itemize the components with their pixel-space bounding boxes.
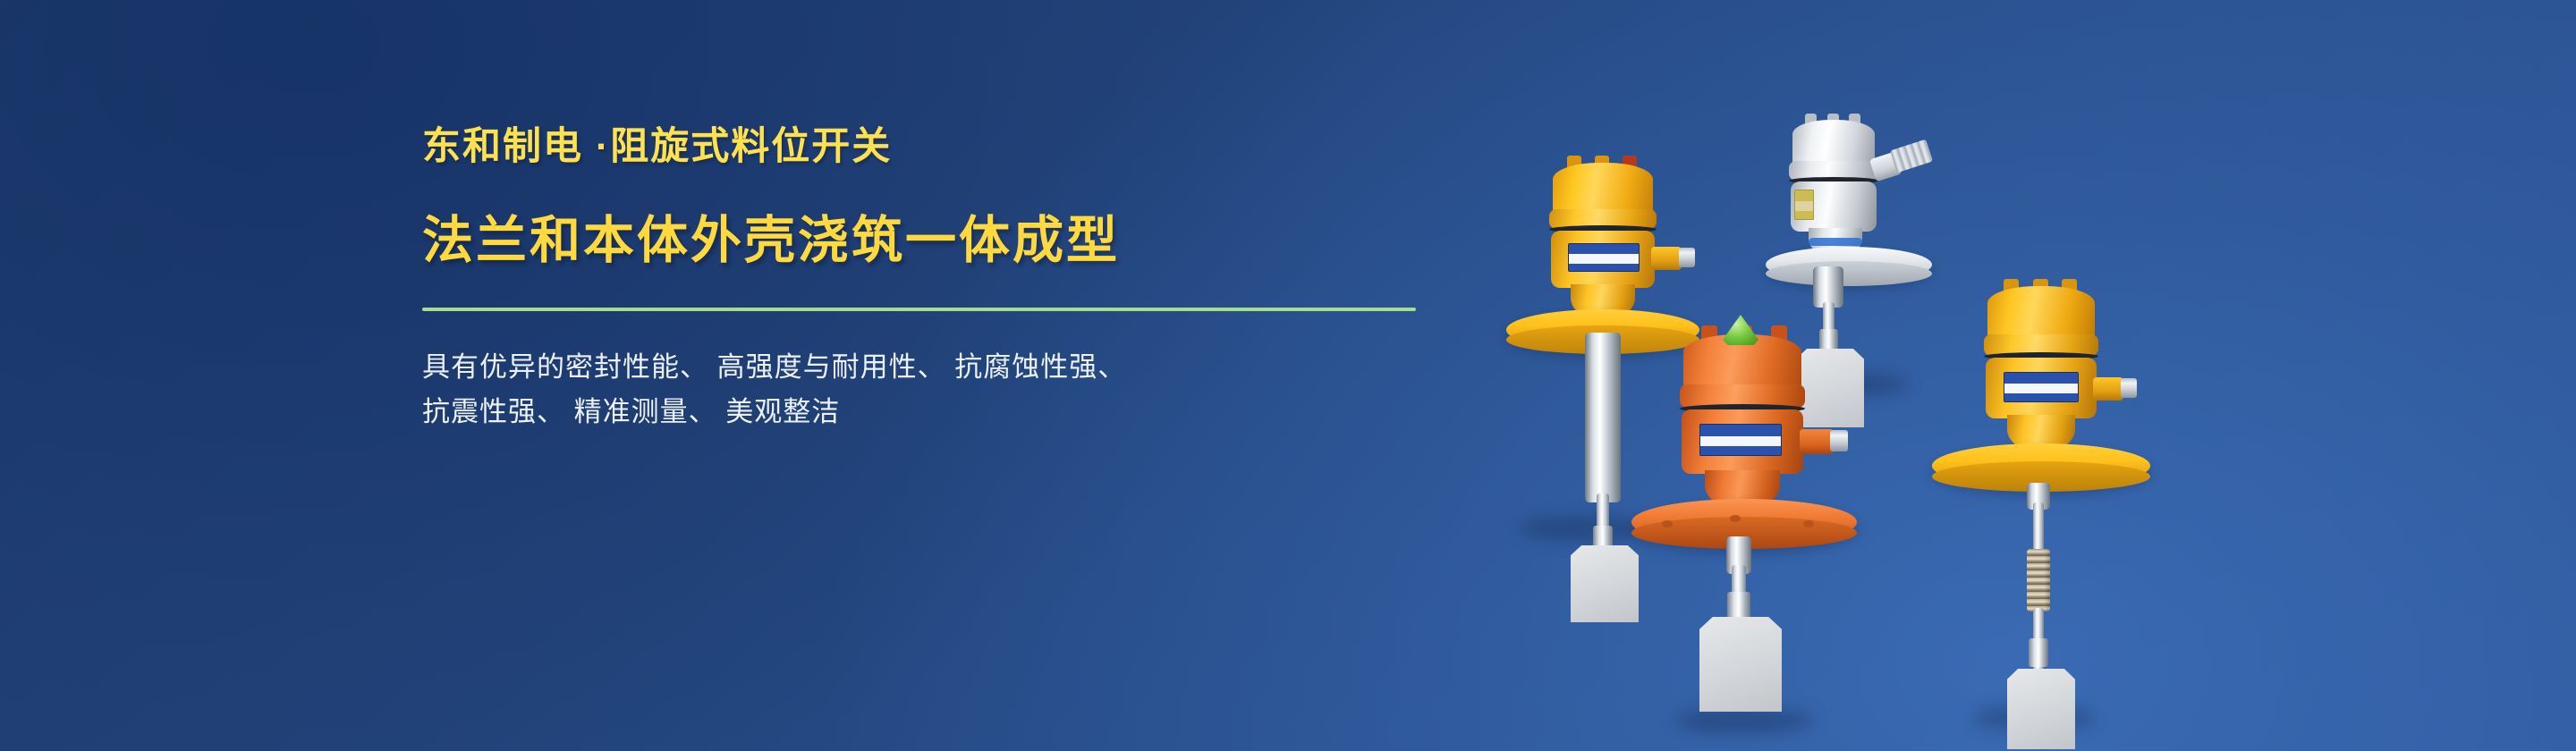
mounting-flange-edge [1766, 261, 1932, 286]
cable-gland-icon [1890, 139, 1933, 173]
nameplate-label [2004, 372, 2079, 402]
cable-gland-icon [1830, 430, 1848, 451]
divider-line [422, 308, 1416, 311]
banner-subtitle-line-1: 具有优异的密封性能、 高强度与耐用性、 抗腐蚀性强、 [422, 345, 1460, 390]
flange-bolt-hole [1662, 520, 1673, 527]
cable-gland-icon [1679, 248, 1695, 267]
nameplate-label [1568, 243, 1640, 272]
housing-blue-stripe [1809, 238, 1862, 246]
paddle-blade [2007, 669, 2075, 749]
cable-gland-icon [2121, 378, 2137, 398]
banner-subtitle: 具有优异的密封性能、 高强度与耐用性、 抗腐蚀性强、 抗震性强、 精准测量、 美… [422, 345, 1460, 435]
product-hero-banner: 东和制电 ·阻旋式料位开关 法兰和本体外壳浇筑一体成型 具有优异的密封性能、 高… [0, 0, 2576, 751]
paddle-blade [1571, 545, 1639, 622]
product-orange-housing [1637, 313, 1923, 751]
nameplate-label [1794, 190, 1814, 220]
conduit-entry [1800, 429, 1834, 454]
conduit-entry [2093, 377, 2123, 401]
banner-subtitle-line-2: 抗震性强、 精准测量、 美观整洁 [422, 390, 1460, 435]
nameplate-label [1699, 424, 1782, 456]
drop-shadow [1674, 708, 1814, 733]
product-yellow-spring-shaft [1923, 268, 2209, 751]
flange-bolt-hole [1730, 515, 1741, 522]
banner-headline: 法兰和本体外壳浇筑一体成型 [422, 212, 1460, 271]
paddle-blade [1699, 617, 1782, 712]
extension-tube [1585, 333, 1621, 502]
banner-text-column: 东和制电 ·阻旋式料位开关 法兰和本体外壳浇筑一体成型 具有优异的密封性能、 高… [422, 125, 1460, 435]
shaft-coupler [2029, 638, 2048, 667]
drop-shadow [1519, 517, 1644, 540]
conduit-entry [1651, 247, 1682, 270]
flange-bolt-hole [1803, 520, 1814, 527]
product-image-cluster [1476, 107, 2218, 662]
spring-coil [2027, 549, 2050, 612]
banner-eyebrow: 东和制电 ·阻旋式料位开关 [422, 125, 1460, 169]
